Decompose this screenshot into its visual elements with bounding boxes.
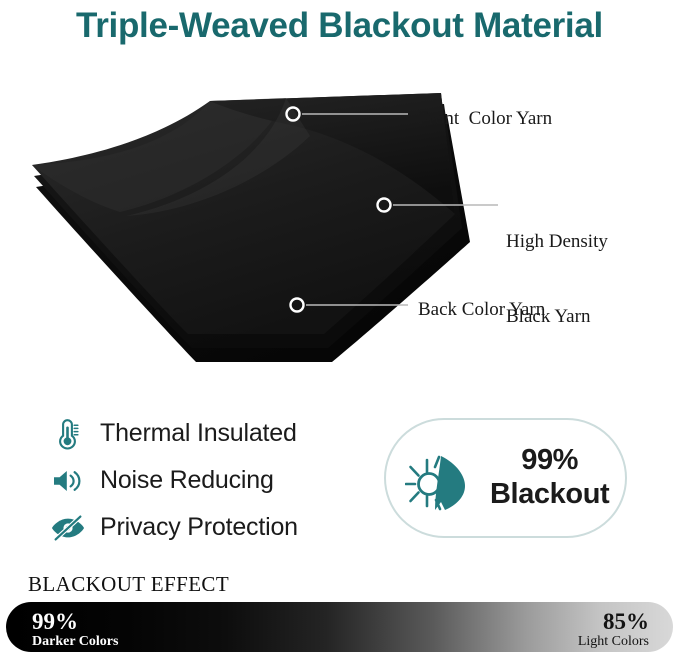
feature-label-noise-reducing: Noise Reducing <box>100 466 274 495</box>
bar-right-percent: 85% <box>578 609 649 634</box>
eye-slash-icon <box>48 508 88 548</box>
callout-label-high-density-black-yarn: High Density Black Yarn <box>506 179 608 355</box>
sun-blocked-by-curtain-icon <box>404 441 480 515</box>
bar-left-annotation: 99% Darker Colors <box>32 609 118 650</box>
feature-list: Thermal Insulated Noise Reducing Privacy… <box>48 410 368 551</box>
callout-line-1: High Density <box>506 229 608 254</box>
feature-label-thermal-insulated: Thermal Insulated <box>100 419 297 448</box>
blackout-badge: 99% Blackout <box>384 418 627 538</box>
feature-label-privacy-protection: Privacy Protection <box>100 513 298 542</box>
blackout-effect-gradient-bar: 99% Darker Colors 85% Light Colors <box>6 602 673 652</box>
feature-item-privacy-protection: Privacy Protection <box>48 504 368 551</box>
thermometer-icon <box>48 414 88 454</box>
bar-left-caption: Darker Colors <box>32 634 118 649</box>
blackout-effect-heading: BLACKOUT EFFECT <box>28 572 229 597</box>
blackout-badge-text: 99% Blackout <box>490 444 609 511</box>
feature-item-thermal-insulated: Thermal Insulated <box>48 410 368 457</box>
bar-left-percent: 99% <box>32 609 118 634</box>
callout-label-front-color-yarn: Front Color Yarn <box>418 106 552 131</box>
speaker-sound-icon <box>48 461 88 501</box>
blackout-percent: 99% <box>521 444 578 476</box>
bar-right-annotation: 85% Light Colors <box>578 609 649 650</box>
blackout-label: Blackout <box>490 478 609 510</box>
feature-item-noise-reducing: Noise Reducing <box>48 457 368 504</box>
callout-label-back-color-yarn: Back Color Yarn <box>418 297 545 322</box>
bar-right-caption: Light Colors <box>578 634 649 649</box>
page-title: Triple-Weaved Blackout Material <box>0 0 679 52</box>
